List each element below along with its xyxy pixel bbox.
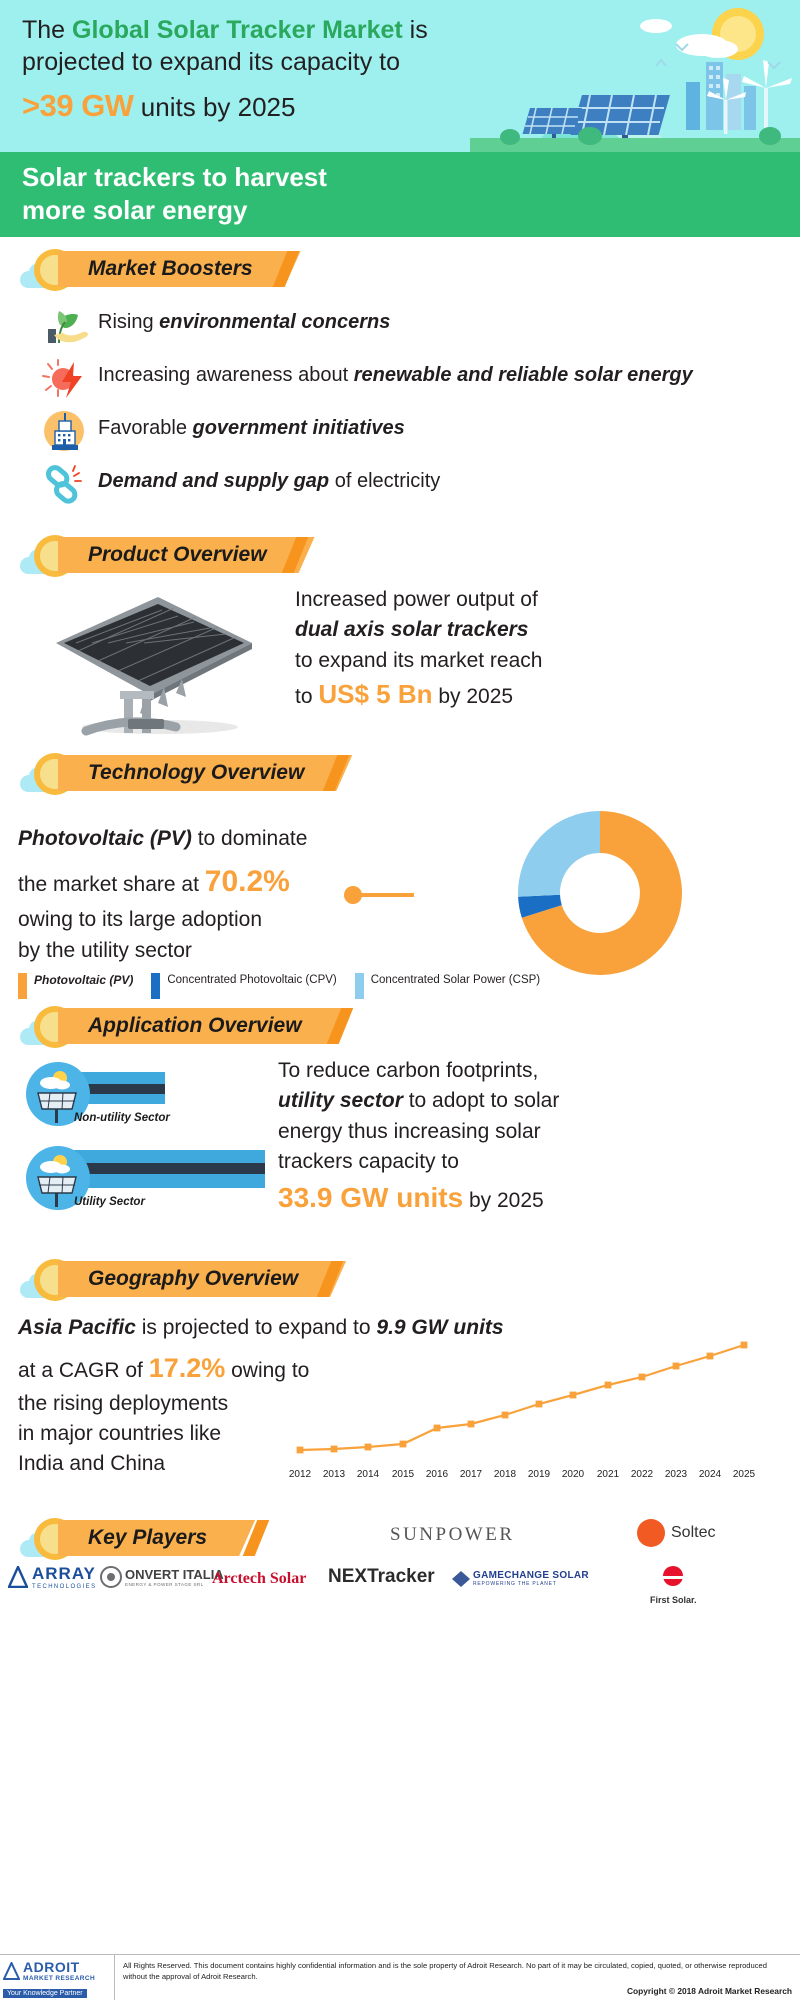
legend-swatch (18, 973, 27, 999)
ribbon-bar: Geography Overview (58, 1261, 346, 1297)
banner-line-1: Solar trackers to harvest (22, 161, 800, 194)
technology-donut-chart (495, 803, 710, 983)
geography-overview-section: Asia Pacific is projected to expand to 9… (0, 1299, 800, 1514)
sector-non-utility: Non-utility Sector (18, 1060, 268, 1130)
callout-dot (344, 886, 362, 904)
broken-chain-icon (40, 462, 98, 506)
sun-bolt-icon (40, 356, 98, 400)
svg-text:2025: 2025 (733, 1469, 756, 1480)
arctech-solar-logo: Arctech Solar (212, 1570, 306, 1588)
svg-text:2018: 2018 (494, 1469, 517, 1480)
footer: ADROIT MARKET RESEARCH Your Knowledge Pa… (0, 1954, 800, 2000)
list-item-text: Demand and supply gap of electricity (98, 462, 440, 494)
svg-text:2015: 2015 (392, 1469, 415, 1480)
sunpower-logo: SUNPOWER (390, 1524, 515, 1546)
list-item: Increasing awareness about renewable and… (40, 356, 800, 400)
sector-label: Utility Sector (74, 1196, 145, 1208)
ribbon-bar: Product Overview (58, 537, 315, 573)
list-item: Demand and supply gap of electricity (40, 462, 800, 506)
hero-text: The Global Solar Tracker Market is proje… (22, 14, 582, 124)
technology-overview-section: Photovoltaic (PV) to dominate the market… (0, 793, 800, 1008)
application-overview-text: To reduce carbon footprints, utility sec… (278, 1056, 778, 1218)
section-header-product-overview: Product Overview (34, 537, 800, 575)
pv-share-value: 70.2% (205, 865, 290, 898)
application-value: 33.9 GW units (278, 1182, 463, 1213)
sector-utility: Utility Sector (18, 1144, 268, 1214)
section-title: Geography Overview (88, 1267, 298, 1291)
list-item-text: Increasing awareness about renewable and… (98, 356, 693, 388)
legend-swatch (355, 973, 364, 999)
first-solar-logo: First Solar. (650, 1564, 697, 1605)
svg-text:2013: 2013 (323, 1469, 346, 1480)
svg-text:2021: 2021 (597, 1469, 620, 1480)
government-building-icon (40, 409, 98, 453)
gamechange-solar-logo: GAMECHANGE SOLAR REPOWERING THE PLANET (452, 1570, 589, 1587)
data-markers (297, 1342, 748, 1454)
legend-label: Concentrated Solar Power (CSP) (371, 973, 540, 988)
line-series (300, 1345, 744, 1450)
list-item: Favorable government initiatives (40, 409, 800, 453)
legend-item-cpv: Concentrated Photovoltaic (CPV) (151, 973, 336, 999)
section-title: Technology Overview (88, 761, 304, 785)
footer-copyright: Copyright © 2018 Adroit Market Research (123, 1985, 792, 1997)
convert-mark-icon (100, 1566, 122, 1588)
svg-text:2022: 2022 (631, 1469, 654, 1480)
hero-stat: >39 GW units by 2025 (22, 88, 582, 124)
section-title: Product Overview (88, 543, 267, 567)
list-item: Rising environmental concerns (40, 303, 800, 347)
adroit-logo: ADROIT MARKET RESEARCH Your Knowledge Pa… (0, 1955, 115, 2000)
section-title: Application Overview (88, 1014, 302, 1038)
market-boosters-list: Rising environmental concerns Increasing… (40, 303, 800, 506)
ribbon-bar: Technology Overview (58, 755, 352, 791)
technology-overview-text: Photovoltaic (PV) to dominate the market… (18, 823, 378, 967)
ribbon-bar: Application Overview (58, 1008, 350, 1044)
svg-text:2012: 2012 (289, 1469, 312, 1480)
list-item-text: Rising environmental concerns (98, 303, 390, 335)
slice-csp (518, 811, 600, 897)
first-solar-mark-icon (659, 1564, 687, 1590)
ribbon-bar: Market Boosters (58, 251, 301, 287)
section-title: Key Players (88, 1526, 207, 1550)
section-header-market-boosters: Market Boosters (34, 251, 800, 289)
legend-label: Concentrated Photovoltaic (CPV) (167, 973, 336, 988)
footer-text: All Rights Reserved. This document conta… (115, 1955, 800, 2000)
cagr-value: 17.2% (149, 1353, 226, 1383)
svg-text:2020: 2020 (562, 1469, 585, 1480)
svg-text:2016: 2016 (426, 1469, 449, 1480)
application-overview-section: Non-utility Sector Utility Sector To red… (0, 1046, 800, 1261)
plant-in-hand-icon (40, 303, 98, 347)
hero-stat-value: >39 GW (22, 88, 134, 123)
hero-subheadline: projected to expand its capacity to (22, 46, 582, 79)
legend-label: Photovoltaic (PV) (34, 973, 133, 988)
svg-text:2017: 2017 (460, 1469, 483, 1480)
legend-item-csp: Concentrated Solar Power (CSP) (355, 973, 540, 999)
hero-banner: The Global Solar Tracker Market is proje… (0, 0, 800, 152)
x-axis-tick-labels: 201220132014 201520162017 201820192020 2… (289, 1469, 756, 1480)
green-banner: Solar trackers to harvest more solar ene… (0, 152, 800, 237)
banner-line-2: more solar energy (22, 194, 800, 227)
list-item-text: Favorable government initiatives (98, 409, 405, 441)
adroit-mark-icon (3, 1962, 20, 1980)
svg-text:2023: 2023 (665, 1469, 688, 1480)
section-header-application-overview: Application Overview (34, 1008, 800, 1046)
svg-text:2024: 2024 (699, 1469, 722, 1480)
sector-label: Non-utility Sector (74, 1112, 170, 1124)
section-header-geography-overview: Geography Overview (34, 1261, 800, 1299)
soltec-mark-icon (636, 1518, 666, 1548)
technology-legend: Photovoltaic (PV) Concentrated Photovolt… (18, 973, 540, 999)
product-overview-section: Increased power output of dual axis sola… (0, 575, 800, 755)
ribbon-bar: Key Players (58, 1520, 255, 1556)
key-players-section: SUNPOWER Soltec ARRAY TECHNOLOGIES ONVER… (0, 1558, 800, 1668)
section-title: Market Boosters (88, 257, 253, 281)
footer-disclaimer: All Rights Reserved. This document conta… (123, 1960, 792, 1982)
convert-italia-logo: ONVERT ITALIA ENERGY & POWER STAGE SRL (100, 1566, 224, 1588)
application-sectors: Non-utility Sector Utility Sector (18, 1060, 268, 1228)
legend-item-pv: Photovoltaic (PV) (18, 973, 133, 999)
array-technologies-logo: ARRAY TECHNOLOGIES (8, 1564, 96, 1590)
product-overview-text: Increased power output of dual axis sola… (295, 585, 775, 714)
gamechange-mark-icon (452, 1571, 470, 1587)
product-value: US$ 5 Bn (318, 679, 432, 709)
solar-panel-photo (40, 587, 270, 737)
nextracker-logo: NEXTracker (328, 1566, 435, 1588)
legend-swatch (151, 973, 160, 999)
hero-headline: The Global Solar Tracker Market is (22, 14, 582, 46)
section-header-technology-overview: Technology Overview (34, 755, 800, 793)
geography-line-chart: 201220132014 201520162017 201820192020 2… (280, 1327, 780, 1492)
svg-text:2019: 2019 (528, 1469, 551, 1480)
svg-text:2014: 2014 (357, 1469, 380, 1480)
array-mark-icon (8, 1566, 28, 1588)
soltec-logo: Soltec (636, 1518, 715, 1548)
